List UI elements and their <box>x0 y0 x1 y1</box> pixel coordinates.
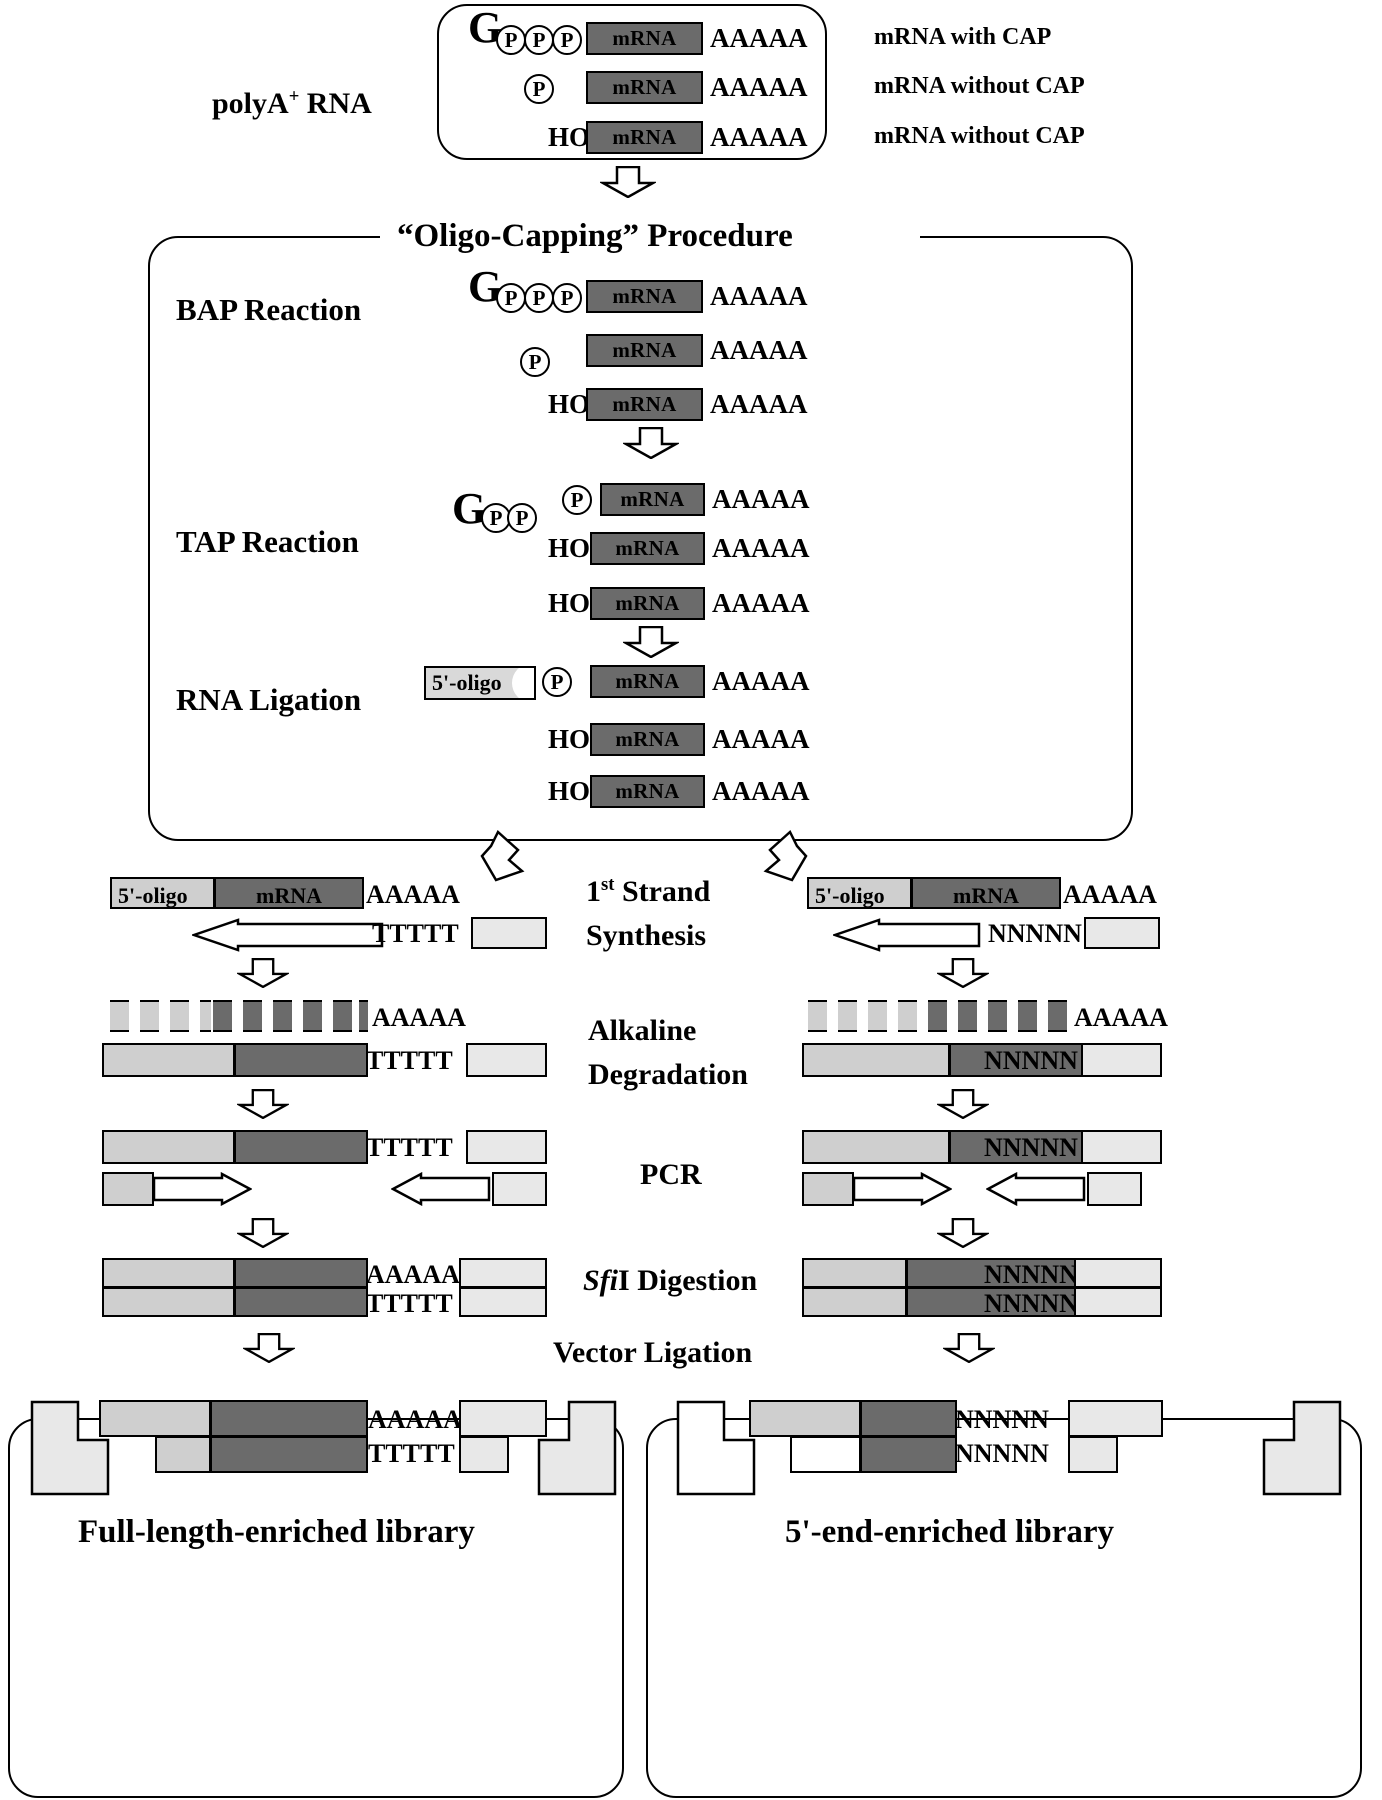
hydroxyl-label: HO <box>548 590 590 617</box>
hydroxyl-label: HO <box>548 778 590 805</box>
degraded-mrna-tick <box>110 1000 129 1032</box>
mrna-bar: mRNA <box>590 723 705 756</box>
five-prime-oligo-label: 5'-oligo <box>118 885 188 907</box>
library-insert-bottom-light <box>155 1436 211 1473</box>
cdna-oligo-segment <box>802 1043 950 1077</box>
mrna-bar: mRNA <box>590 532 705 565</box>
hydroxyl-label: HO <box>548 726 590 753</box>
degraded-mrna-tick <box>1048 1000 1067 1032</box>
down-arrow-icon <box>237 1218 289 1248</box>
down-arrow-icon <box>937 1089 989 1119</box>
vector-arm-left-mask <box>33 1404 107 1492</box>
mrna-segment: mRNA <box>214 877 364 909</box>
degraded-mrna-tick <box>303 1000 322 1032</box>
poly-a-tail: AAAAA <box>372 1005 466 1031</box>
mrna-bar: mRNA <box>586 71 703 104</box>
first-strand-synthesis-label-line1: 1st Strand <box>586 876 710 907</box>
random-primer-n: NNNNN <box>984 1048 1078 1074</box>
degraded-mrna-tick <box>1018 1000 1037 1032</box>
poly-t-primer: TTTTT <box>366 1135 453 1161</box>
mrna-bar: mRNA <box>586 388 703 421</box>
poly-a-tail: AAAAA <box>710 25 808 52</box>
phosphate-p-icon: P <box>542 667 572 697</box>
phosphate-p-icon: P <box>552 283 582 313</box>
hydroxyl-label: HO <box>548 124 590 151</box>
degraded-mrna-tick <box>140 1000 159 1032</box>
phosphate-p-icon: P <box>524 74 554 104</box>
pcr-template-dark <box>234 1130 368 1164</box>
digested-bottom-dark <box>234 1287 368 1317</box>
five-prime-oligo-label: 5'-oligo <box>815 885 885 907</box>
branch-arrow-left-icon <box>466 828 536 884</box>
library-insert-top-light <box>99 1400 211 1437</box>
mrna-label: mRNA <box>953 885 1019 907</box>
right-arrow-primer-icon <box>152 1172 252 1206</box>
sfi-digestion-label: SfiI Digestion <box>583 1266 757 1296</box>
down-arrow-icon <box>237 958 289 988</box>
digested-top-light <box>102 1258 235 1288</box>
poly-a-tail: AAAAA <box>1063 882 1157 908</box>
degraded-mrna-tick <box>359 1000 368 1032</box>
mrna-bar: mRNA <box>586 280 703 313</box>
library-vector-tag-top <box>1068 1400 1163 1437</box>
five-prime-oligo-label: 5'-oligo <box>432 670 502 696</box>
down-arrow-icon <box>237 1089 289 1119</box>
library-insert-top-light <box>749 1400 861 1437</box>
library-insert-bottom-dark <box>860 1436 957 1473</box>
mrna-without-cap-note-2: mRNA without CAP <box>874 124 1085 148</box>
oligo-notch-icon <box>512 666 536 700</box>
degraded-mrna-tick <box>243 1000 262 1032</box>
degraded-mrna-tick <box>868 1000 887 1032</box>
mrna-bar: mRNA <box>590 775 705 808</box>
vector-arm-left-icon <box>676 1400 756 1496</box>
down-arrow-icon <box>943 1333 995 1363</box>
library-insert-top-dark <box>210 1400 368 1437</box>
vector-arm-right-icon <box>1262 1400 1342 1496</box>
degraded-mrna-tick <box>213 1000 232 1032</box>
pcr-reverse-primer-tag <box>492 1172 547 1206</box>
primer-tag-box <box>471 917 547 949</box>
sfi-digestion-rest: I Digestion <box>618 1264 757 1297</box>
poly-a-tail: AAAAA <box>712 486 810 513</box>
poly-a-tail: AAAAA <box>1074 1005 1168 1031</box>
mrna-bar: mRNA <box>600 483 705 516</box>
five-prime-oligo-box: 5'-oligo <box>424 666 536 700</box>
down-arrow-icon <box>937 958 989 988</box>
library-insert-bottom-white <box>790 1436 861 1473</box>
polya-rna-label: polyA+ RNA <box>212 88 372 119</box>
library-vector-tag-top <box>459 1400 547 1437</box>
mrna-bar: mRNA <box>586 22 703 55</box>
alkaline-degradation-label-line2: Degradation <box>588 1060 748 1090</box>
poly-t-primer: TTTTT <box>372 921 459 947</box>
pcr-template-light <box>802 1130 950 1164</box>
phosphate-p-icon: P <box>552 25 582 55</box>
random-primer-n: NNNNN <box>984 1262 1078 1288</box>
left-arrow-primer-icon <box>192 918 384 952</box>
mrna-segment: mRNA <box>911 877 1061 909</box>
digested-top-light <box>802 1258 907 1288</box>
phosphate-p-icon: P <box>507 503 537 533</box>
phosphate-p-icon: P <box>496 25 526 55</box>
poly-a-tail: AAAAA <box>710 283 808 310</box>
digested-bottom-light <box>802 1287 907 1317</box>
primer-tag-box <box>1081 1130 1162 1164</box>
pcr-forward-primer-tag <box>802 1172 854 1206</box>
phosphate-p-icon: P <box>524 283 554 313</box>
degraded-mrna-tick <box>928 1000 947 1032</box>
poly-a-tail: AAAAA <box>366 1262 460 1288</box>
hydroxyl-label: HO <box>548 391 590 418</box>
degraded-mrna-tick <box>898 1000 917 1032</box>
first-strand-suffix: st <box>601 874 614 895</box>
degraded-mrna-tick <box>808 1000 827 1032</box>
random-primer-n: NNNNN <box>955 1441 1049 1467</box>
branch-arrow-right-icon <box>752 828 822 884</box>
digested-top-dark <box>234 1258 368 1288</box>
phosphate-p-icon: P <box>562 485 592 515</box>
full-length-library-label: Full-length-enriched library <box>78 1516 475 1549</box>
degraded-mrna-tick <box>273 1000 292 1032</box>
random-primer-n: NNNNN <box>988 921 1082 947</box>
mrna-without-cap-note: mRNA without CAP <box>874 74 1085 98</box>
first-strand-word: Strand <box>614 875 710 908</box>
sfi-enzyme-name: Sfi <box>583 1264 618 1297</box>
poly-a-tail: AAAAA <box>366 882 460 908</box>
pcr-template-light <box>102 1130 235 1164</box>
cap-g-letter: G <box>452 487 486 531</box>
down-arrow-icon <box>623 626 679 658</box>
cdna-body-segment <box>234 1043 368 1077</box>
down-arrow-icon <box>243 1333 295 1363</box>
poly-a-tail: AAAAA <box>710 74 808 101</box>
down-arrow-icon <box>600 166 656 198</box>
hydroxyl-label: HO <box>548 535 590 562</box>
digested-bottom-light <box>102 1287 235 1317</box>
right-arrow-primer-icon <box>852 1172 952 1206</box>
degraded-mrna-tick <box>958 1000 977 1032</box>
poly-t-primer: TTTTT <box>366 1291 453 1317</box>
degraded-mrna-tick <box>838 1000 857 1032</box>
poly-a-tail: AAAAA <box>712 726 810 753</box>
pcr-label: PCR <box>640 1160 702 1190</box>
left-arrow-primer-icon <box>986 1172 1086 1206</box>
left-arrow-primer-icon <box>833 918 981 952</box>
cdna-oligo-segment <box>102 1043 235 1077</box>
random-primer-n: NNNNN <box>955 1407 1049 1433</box>
primer-tag-box <box>1081 1043 1162 1077</box>
poly-a-tail: AAAAA <box>712 590 810 617</box>
oligo-capping-title: “Oligo-Capping” Procedure <box>397 220 793 253</box>
poly-t-primer: TTTTT <box>368 1441 455 1467</box>
first-strand-synthesis-label-line2: Synthesis <box>586 921 706 951</box>
poly-a-tail: AAAAA <box>712 668 810 695</box>
down-arrow-icon <box>937 1218 989 1248</box>
alkaline-degradation-label-line1: Alkaline <box>588 1016 696 1046</box>
poly-a-tail: AAAAA <box>710 337 808 364</box>
mrna-label: mRNA <box>256 885 322 907</box>
degraded-mrna-tick <box>333 1000 352 1032</box>
primer-tag-box <box>466 1043 547 1077</box>
library-vector-tag-bottom <box>459 1436 509 1473</box>
digested-tag-top <box>1074 1258 1162 1288</box>
poly-a-tail: AAAAA <box>710 391 808 418</box>
phosphate-p-icon: P <box>524 25 554 55</box>
pcr-reverse-primer-tag <box>1087 1172 1142 1206</box>
degraded-mrna-tick <box>200 1000 211 1032</box>
oligo-segment: 5'-oligo <box>110 877 215 909</box>
phosphate-p-icon: P <box>520 347 550 377</box>
primer-tag-box <box>466 1130 547 1164</box>
poly-a-tail: AAAAA <box>712 778 810 805</box>
mrna-bar: mRNA <box>586 121 703 154</box>
vector-arm-right-icon <box>537 1400 617 1496</box>
poly-a-tail: AAAAA <box>368 1407 462 1433</box>
oligo-segment: 5'-oligo <box>807 877 912 909</box>
mrna-with-cap-note: mRNA with CAP <box>874 25 1051 49</box>
poly-a-tail: AAAAA <box>710 124 808 151</box>
poly-t-primer: TTTTT <box>366 1048 453 1074</box>
mrna-bar: mRNA <box>590 587 705 620</box>
rna-ligation-label: RNA Ligation <box>176 684 361 715</box>
phosphate-p-icon: P <box>496 283 526 313</box>
polya-label-sup: + <box>289 86 300 107</box>
poly-a-tail: AAAAA <box>712 535 810 562</box>
left-arrow-primer-icon <box>391 1172 491 1206</box>
digested-tag-bottom <box>459 1287 547 1317</box>
degraded-mrna-tick <box>170 1000 189 1032</box>
library-insert-top-dark <box>860 1400 957 1437</box>
polya-label-base: polyA <box>212 87 289 120</box>
library-insert-bottom-dark <box>210 1436 368 1473</box>
degraded-mrna-tick <box>988 1000 1007 1032</box>
random-primer-n: NNNNN <box>984 1291 1078 1317</box>
bap-reaction-label: BAP Reaction <box>176 294 361 325</box>
digested-tag-bottom <box>1074 1287 1162 1317</box>
vector-ligation-label: Vector Ligation <box>553 1338 752 1368</box>
tap-reaction-label: TAP Reaction <box>176 526 359 557</box>
five-prime-library-label: 5'-end-enriched library <box>785 1516 1114 1549</box>
library-vector-tag-bottom <box>1068 1436 1118 1473</box>
primer-tag-box <box>1084 917 1160 949</box>
random-primer-n: NNNNN <box>984 1135 1078 1161</box>
mrna-bar: mRNA <box>590 665 705 698</box>
polya-label-tail: RNA <box>299 87 372 120</box>
down-arrow-icon <box>623 427 679 459</box>
first-strand-number: 1 <box>586 875 601 908</box>
mrna-bar: mRNA <box>586 334 703 367</box>
pcr-forward-primer-tag <box>102 1172 154 1206</box>
digested-tag-top <box>459 1258 547 1288</box>
